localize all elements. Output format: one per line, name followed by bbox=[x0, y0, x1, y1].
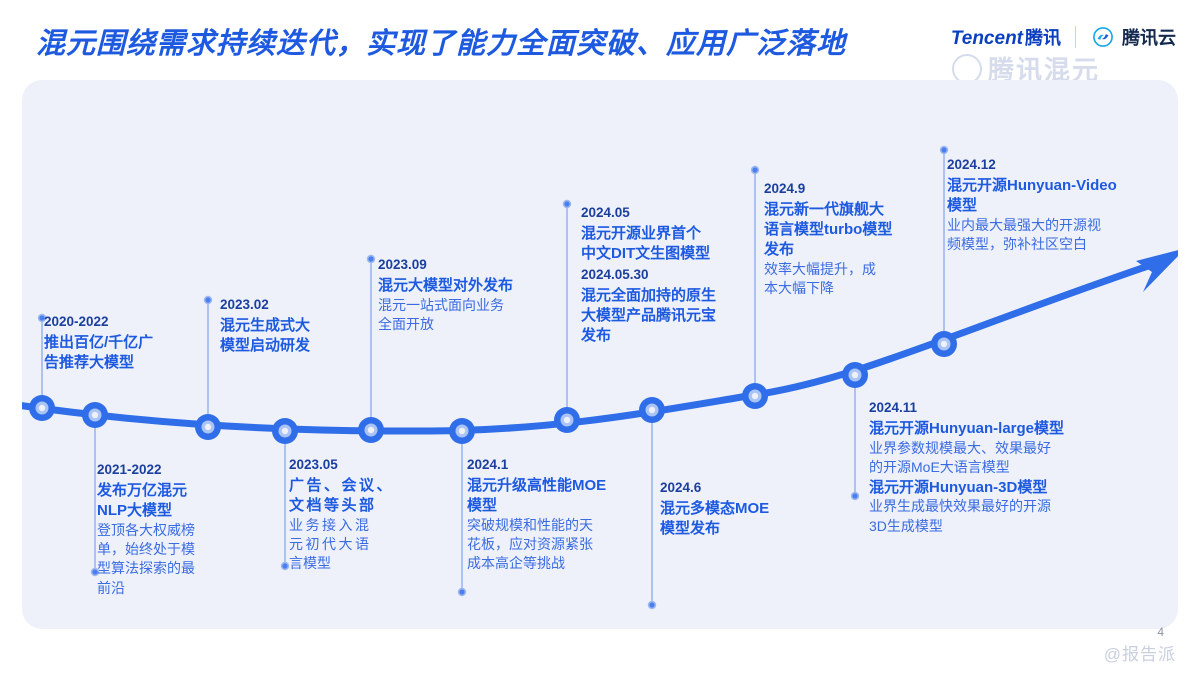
timeline-entry-2021-2022[interactable]: 2021-2022发布万亿混元NLP大模型登顶各大权威榜单，始终处于模型算法探索… bbox=[97, 460, 247, 598]
entry-line: 成本高企等挑战 bbox=[467, 554, 647, 573]
timeline-entry-2024-1[interactable]: 2024.1混元升级高性能MOE模型突破规模和性能的天花板，应对资源紧张成本高企… bbox=[467, 455, 647, 574]
timeline-entry-2024-05[interactable]: 2024.05混元开源业界首个中文DIT文生图模型2024.05.30混元全面加… bbox=[581, 203, 761, 345]
entry-line: 混元开源业界首个 bbox=[581, 224, 761, 244]
entry-line: 型算法探索的最 bbox=[97, 559, 247, 578]
timeline-entry-2023-05[interactable]: 2023.05广告、会议、文档等头部业务接入混元初代大语言模型 bbox=[289, 455, 419, 574]
entry-line: 发布 bbox=[764, 240, 924, 260]
bottom-watermark: @报告派 bbox=[1104, 640, 1176, 665]
tencent-logo-en: Tencent bbox=[951, 28, 1023, 50]
entry-line: 发布 bbox=[581, 326, 761, 346]
entry-line: 大模型产品腾讯元宝 bbox=[581, 306, 761, 326]
entry-line: 中文DIT文生图模型 bbox=[581, 244, 761, 264]
entry-line: 突破规模和性能的天 bbox=[467, 516, 647, 535]
entry-line: 混元一站式面向业务 bbox=[378, 296, 558, 315]
entry-line: 业界生成最快效果最好的开源 bbox=[869, 497, 1119, 516]
brand-divider bbox=[1075, 26, 1076, 48]
hunyuan-ring-icon bbox=[952, 54, 982, 84]
entry-line: 推出百亿/千亿广 bbox=[44, 333, 214, 353]
tencent-cloud-label: 腾讯云 bbox=[1122, 24, 1176, 50]
entry-date: 2024.05 bbox=[581, 203, 761, 223]
entry-line: 的开源MoE大语言模型 bbox=[869, 458, 1119, 477]
entry-line: 告推荐大模型 bbox=[44, 353, 214, 373]
entry-line: 全面开放 bbox=[378, 315, 558, 334]
tencent-cloud-logo: 腾讯云 bbox=[1090, 24, 1176, 50]
entry-date: 2021-2022 bbox=[97, 460, 247, 480]
entry-date: 2024.9 bbox=[764, 179, 924, 199]
entry-date: 2023.05 bbox=[289, 455, 419, 475]
entry-line: 频模型，弥补社区空白 bbox=[947, 235, 1157, 254]
slide: 混元围绕需求持续迭代，实现了能力全面突破、应用广泛落地 Tencent 腾讯 腾… bbox=[0, 0, 1200, 675]
entry-line: 业内最大最强大的开源视 bbox=[947, 216, 1157, 235]
tencent-logo-cn: 腾讯 bbox=[1025, 24, 1061, 50]
entry-line: 模型 bbox=[947, 196, 1157, 216]
entry-line: 模型启动研发 bbox=[220, 336, 370, 356]
entry-line: 业务接入混 bbox=[289, 516, 419, 535]
entry-date: 2023.02 bbox=[220, 295, 370, 315]
entry-date: 2020-2022 bbox=[44, 312, 214, 332]
entry-line: 混元生成式大 bbox=[220, 316, 370, 336]
entry-line: 言模型 bbox=[289, 554, 419, 573]
entry-line: 广告、会议、 bbox=[289, 476, 419, 496]
entry-line: 混元全面加持的原生 bbox=[581, 286, 761, 306]
tencent-cloud-icon bbox=[1090, 27, 1116, 47]
entry-line: 文档等头部 bbox=[289, 496, 419, 516]
entry-line: 本大幅下降 bbox=[764, 279, 924, 298]
timeline-entry-2024-9[interactable]: 2024.9混元新一代旗舰大语言模型turbo模型发布效率大幅提升，成本大幅下降 bbox=[764, 179, 924, 298]
entry-date: 2024.6 bbox=[660, 478, 820, 498]
entry-date: 2024.1 bbox=[467, 455, 647, 475]
entry-date: 2023.09 bbox=[378, 255, 558, 275]
entry-line: 混元大模型对外发布 bbox=[378, 276, 558, 296]
entry-line: 登顶各大权威榜 bbox=[97, 521, 247, 540]
entry-line: 发布万亿混元 bbox=[97, 481, 247, 501]
timeline-entry-2024-6[interactable]: 2024.6混元多模态MOE模型发布 bbox=[660, 478, 820, 539]
entry-line: 业界参数规模最大、效果最好 bbox=[869, 439, 1119, 458]
entry-line: 2024.05.30 bbox=[581, 265, 761, 285]
entry-line: 混元新一代旗舰大 bbox=[764, 200, 924, 220]
timeline-entry-2024-11[interactable]: 2024.11混元开源Hunyuan-large模型业界参数规模最大、效果最好的… bbox=[869, 398, 1119, 536]
timeline-entry-2020-2022[interactable]: 2020-2022推出百亿/千亿广告推荐大模型 bbox=[44, 312, 214, 373]
timeline-entry-2024-12[interactable]: 2024.12混元开源Hunyuan-Video模型业内最大最强大的开源视频模型… bbox=[947, 155, 1157, 254]
entry-line: 语言模型turbo模型 bbox=[764, 220, 924, 240]
entry-line: 元初代大语 bbox=[289, 535, 419, 554]
entry-line: 3D生成模型 bbox=[869, 517, 1119, 536]
entry-line: 模型发布 bbox=[660, 519, 820, 539]
entry-line: 混元开源Hunyuan-Video bbox=[947, 176, 1157, 196]
entry-line: 花板，应对资源紧张 bbox=[467, 535, 647, 554]
entry-line: 混元多模态MOE bbox=[660, 499, 820, 519]
entry-line: 单，始终处于模 bbox=[97, 540, 247, 559]
entry-line: 模型 bbox=[467, 496, 647, 516]
timeline-entry-2023-09[interactable]: 2023.09混元大模型对外发布混元一站式面向业务全面开放 bbox=[378, 255, 558, 335]
entry-date: 2024.12 bbox=[947, 155, 1157, 175]
entry-line: NLP大模型 bbox=[97, 501, 247, 521]
page-title: 混元围绕需求持续迭代，实现了能力全面突破、应用广泛落地 bbox=[36, 20, 846, 62]
entry-line: 混元升级高性能MOE bbox=[467, 476, 647, 496]
entry-line: 效率大幅提升，成 bbox=[764, 260, 924, 279]
timeline-entry-2023-02[interactable]: 2023.02混元生成式大模型启动研发 bbox=[220, 295, 370, 356]
entry-line: 前沿 bbox=[97, 579, 247, 598]
brand-lockup: Tencent 腾讯 腾讯云 bbox=[951, 24, 1176, 50]
tencent-logo: Tencent 腾讯 bbox=[951, 24, 1061, 50]
page-number: 4 bbox=[1157, 625, 1164, 639]
entry-line: 混元开源Hunyuan-large模型 bbox=[869, 419, 1119, 439]
entry-line: 混元开源Hunyuan-3D模型 bbox=[869, 478, 1119, 498]
entry-date: 2024.11 bbox=[869, 398, 1119, 418]
